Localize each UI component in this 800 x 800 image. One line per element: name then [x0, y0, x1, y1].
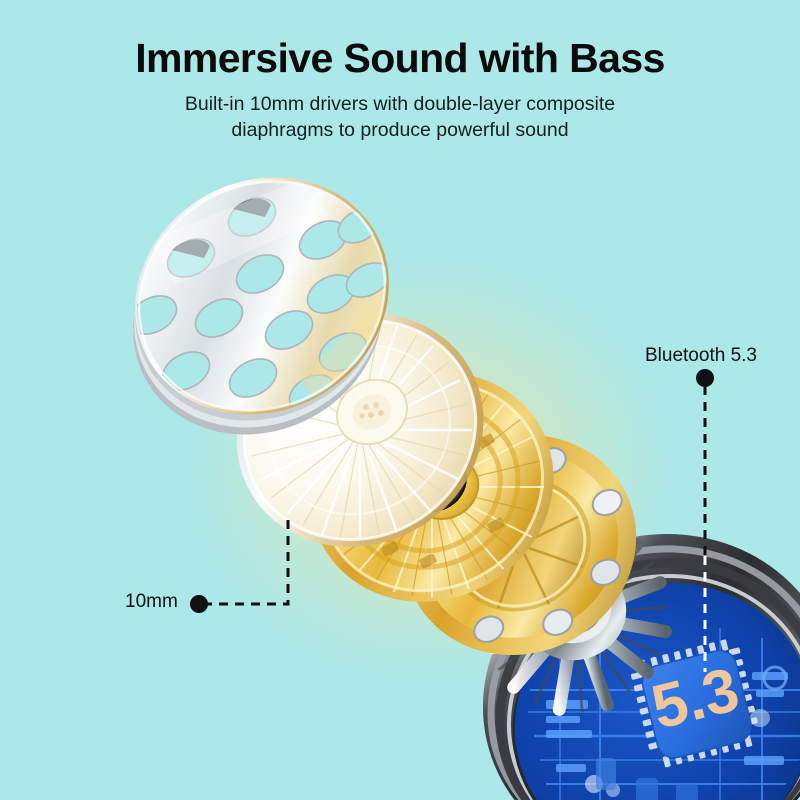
page-subtitle: Built-in 10mm drivers with double-layer …	[0, 82, 800, 143]
header-block: Immersive Sound with Bass Built-in 10mm …	[0, 0, 800, 143]
callout-label-driver-size: 10mm	[125, 591, 178, 613]
subtitle-line-2: diaphragms to produce powerful sound	[0, 117, 800, 143]
callout-driver-size-text: 10mm	[125, 591, 178, 612]
callout-label-bluetooth: Bluetooth 5.3	[645, 345, 757, 367]
subtitle-line-1: Built-in 10mm drivers with double-layer …	[0, 91, 800, 117]
product-infographic: 5.3	[0, 0, 800, 800]
callout-bluetooth-text: Bluetooth 5.3	[645, 345, 757, 366]
page-title: Immersive Sound with Bass	[0, 0, 800, 82]
